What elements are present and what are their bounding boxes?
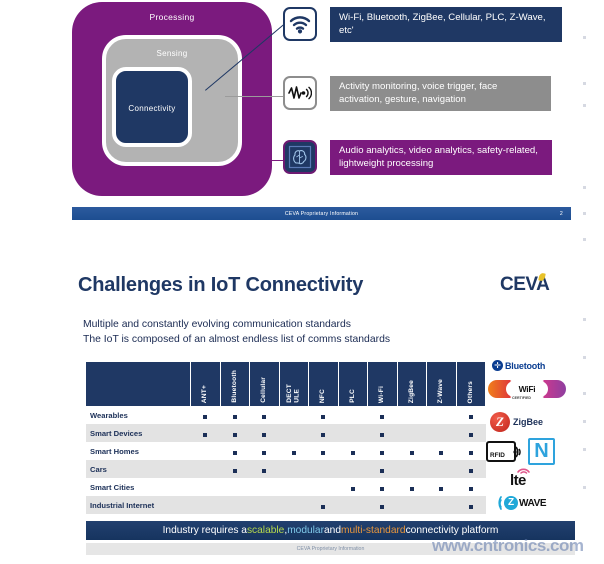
table-row: Smart Devices [86, 424, 486, 442]
zigbee-logo-label: ZigBee [513, 417, 543, 427]
support-dot-icon [351, 487, 355, 491]
zwave-logo-label: WAVE [519, 498, 546, 509]
table-cell [279, 406, 309, 424]
slide2-footer-text: CEVA Proprietary Information [297, 546, 365, 552]
banner-mid: and [324, 525, 341, 536]
table-col-header: NFC [309, 362, 339, 406]
support-dot-icon [321, 505, 325, 509]
table-cell [397, 424, 427, 442]
table-cell [250, 424, 280, 442]
wifi-certified-label: CERTIFIED [512, 396, 531, 400]
table-cell [368, 460, 398, 478]
banner-suffix: connectivity platform [406, 525, 499, 536]
wifi-pill-shape: WiFi CERTIFIED [488, 380, 566, 398]
table-cell [279, 460, 309, 478]
bluetooth-logo-label: Bluetooth [505, 361, 545, 371]
support-dot-icon [262, 469, 266, 473]
table-cell [250, 460, 280, 478]
table-row-label: Smart Devices [86, 424, 191, 442]
rfid-box-icon: RFID [486, 441, 516, 462]
table-cell [456, 424, 486, 442]
rfid-logo: RFID N [486, 438, 555, 465]
table-cell [220, 496, 250, 514]
callout-connectivity: Wi-Fi, Bluetooth, ZigBee, Cellular, PLC,… [283, 7, 562, 42]
table-cell [397, 442, 427, 460]
table-cell [191, 424, 221, 442]
table-col-header: Others [456, 362, 486, 406]
support-dot-icon [233, 469, 237, 473]
table-row-label: Wearables [86, 406, 191, 424]
table-cell [250, 496, 280, 514]
table-row-label: Cars [86, 460, 191, 478]
rfid-logo-label: RFID [490, 452, 505, 459]
table-col-header-label: DECT ULE [286, 384, 301, 403]
table-cell [309, 406, 339, 424]
table-cell [427, 424, 457, 442]
table-cell [250, 478, 280, 496]
site-watermark: www.cntronics.com [432, 536, 583, 556]
table-cell [250, 442, 280, 460]
table-col-header-label: ANT+ [201, 385, 209, 403]
support-dot-icon [469, 433, 473, 437]
standards-logo-strip: ✛ Bluetooth WiFi CERTIFIED Z ZigBee RFID [484, 358, 576, 518]
support-dot-icon [469, 415, 473, 419]
zigbee-logo: Z ZigBee [490, 412, 543, 432]
table-cell [220, 442, 250, 460]
banner-word-modular: modular [287, 525, 324, 536]
slide1-footer-text: CEVA Proprietary Information [285, 211, 358, 217]
callout-connectivity-text: Wi-Fi, Bluetooth, ZigBee, Cellular, PLC,… [330, 7, 562, 42]
zwave-waves-icon [490, 496, 504, 510]
support-dot-icon [203, 433, 207, 437]
support-dot-icon [439, 451, 443, 455]
callout-processing-text: Audio analytics, video analytics, safety… [330, 140, 552, 175]
banner-prefix: Industry requires a [163, 525, 247, 536]
support-dot-icon [351, 451, 355, 455]
connectivity-ring: Connectivity [112, 67, 192, 147]
table-cell [397, 496, 427, 514]
table-col-header-label: Cellular [260, 377, 268, 403]
wifi-certified-logo: WiFi CERTIFIED [488, 380, 566, 398]
slide1-footer: CEVA Proprietary Information 2 [72, 207, 571, 220]
support-dot-icon [380, 451, 384, 455]
table-cell [368, 424, 398, 442]
table-col-header-label: Bluetooth [231, 370, 239, 403]
table-cell [338, 442, 368, 460]
support-dot-icon [321, 451, 325, 455]
table-row: Wearables [86, 406, 486, 424]
table-cell [456, 478, 486, 496]
table-cell [309, 478, 339, 496]
slide-iot-challenges: Challenges in IoT Connectivity CEVA Mult… [0, 236, 604, 564]
slide-iot-layers: Processing Sensing Connectivity Wi-Fi, B… [0, 0, 604, 232]
bluetooth-badge-icon: ✛ [492, 360, 503, 371]
support-dot-icon [292, 451, 296, 455]
table-cell [368, 496, 398, 514]
table-header-row: ANT+BluetoothCellularDECT ULENFCPLCWi-Fi… [86, 362, 486, 406]
support-dot-icon [469, 505, 473, 509]
support-dot-icon [233, 415, 237, 419]
table-row: Industrial Internet [86, 496, 486, 514]
banner-word-scalable: scalable [247, 525, 284, 536]
table-cell [220, 460, 250, 478]
table-cell [368, 478, 398, 496]
nfc-logo-label: N [534, 440, 548, 462]
table-col-header: Bluetooth [220, 362, 250, 406]
table-cell [191, 478, 221, 496]
table-cell [456, 460, 486, 478]
wifi-core-shape: WiFi [506, 381, 548, 397]
table-col-header-label: Wi-Fi [378, 386, 386, 403]
table-cell [456, 496, 486, 514]
zwave-circle-icon: Z [504, 496, 518, 510]
table-row: Smart Cities [86, 478, 486, 496]
table-cell [220, 424, 250, 442]
table-col-header-label: Z-Wave [437, 379, 445, 403]
support-dot-icon [233, 433, 237, 437]
support-dot-icon [410, 451, 414, 455]
table-cell [427, 442, 457, 460]
support-dot-icon [262, 415, 266, 419]
table-row-label: Smart Cities [86, 478, 191, 496]
table-cell [456, 406, 486, 424]
table-cell [338, 424, 368, 442]
table-cell [191, 496, 221, 514]
table-cell [250, 406, 280, 424]
standards-matrix-table: ANT+BluetoothCellularDECT ULENFCPLCWi-Fi… [86, 362, 486, 514]
table-cell [338, 496, 368, 514]
support-dot-icon [262, 451, 266, 455]
zwave-logo: Z WAVE [490, 496, 546, 510]
lte-logo-label: lte [510, 472, 526, 489]
support-dot-icon [380, 415, 384, 419]
table-body: WearablesSmart DevicesSmart HomesCarsSma… [86, 406, 486, 514]
table-col-header: PLC [338, 362, 368, 406]
table-cell [427, 460, 457, 478]
support-dot-icon [380, 505, 384, 509]
audio-waveform-icon [283, 76, 317, 110]
support-dot-icon [380, 487, 384, 491]
subtitle: Multiple and constantly evolving communi… [83, 318, 390, 347]
table-col-header: DECT ULE [279, 362, 309, 406]
ceva-logo-word: CEVA [500, 272, 562, 298]
table-cell [309, 460, 339, 478]
table-col-header: ZigBee [397, 362, 427, 406]
table-cell [309, 442, 339, 460]
table-row-label: Smart Homes [86, 442, 191, 460]
page-title: Challenges in IoT Connectivity [78, 274, 363, 297]
table-cell [427, 478, 457, 496]
callout-processing: Audio analytics, video analytics, safety… [283, 140, 552, 175]
support-dot-icon [203, 415, 207, 419]
table-cell [191, 460, 221, 478]
table-cell [368, 406, 398, 424]
table-cell [220, 478, 250, 496]
table-cell [279, 478, 309, 496]
banner-word-multi-standard: multi-standard [341, 525, 406, 536]
table-col-header-label: ZigBee [408, 380, 416, 403]
table-cell [279, 424, 309, 442]
support-dot-icon [262, 433, 266, 437]
table-row: Smart Homes [86, 442, 486, 460]
edge-artifacts [580, 0, 586, 564]
slide1-page-number: 2 [560, 211, 563, 217]
bluetooth-logo: ✛ Bluetooth [492, 360, 545, 371]
table-cell [427, 496, 457, 514]
iot-layer-diagram: Processing Sensing Connectivity [72, 2, 272, 196]
table-cell [220, 406, 250, 424]
table-cell [309, 496, 339, 514]
support-dot-icon [321, 415, 325, 419]
support-dot-icon [321, 433, 325, 437]
table-col-header-label: NFC [319, 389, 327, 403]
table-col-header-label: PLC [349, 389, 357, 403]
table-col-header-label: Others [467, 381, 475, 403]
support-dot-icon [439, 487, 443, 491]
table-cell [456, 442, 486, 460]
table-cell [368, 442, 398, 460]
callout-sensing: Activity monitoring, voice trigger, face… [283, 76, 551, 111]
connectivity-label: Connectivity [116, 104, 188, 113]
table-cell [309, 424, 339, 442]
table-row-label: Industrial Internet [86, 496, 191, 514]
wifi-signal-icon [283, 7, 317, 41]
table-col-header: Z-Wave [427, 362, 457, 406]
table-col-header: ANT+ [191, 362, 221, 406]
table-cell [338, 406, 368, 424]
support-dot-icon [380, 433, 384, 437]
wifi-logo-label: WiFi [519, 384, 536, 394]
sensing-label: Sensing [106, 49, 238, 58]
table-cell [279, 442, 309, 460]
support-dot-icon [469, 469, 473, 473]
table-cell [397, 406, 427, 424]
table-cell [279, 496, 309, 514]
table-row: Cars [86, 460, 486, 478]
brain-chip-icon [283, 140, 317, 174]
support-dot-icon [410, 487, 414, 491]
nfc-box-icon: N [528, 438, 555, 465]
table-cell [338, 460, 368, 478]
support-dot-icon [380, 469, 384, 473]
table-corner-cell [86, 362, 191, 406]
support-dot-icon [233, 451, 237, 455]
table-cell [191, 406, 221, 424]
lte-waves-icon [516, 462, 532, 474]
ceva-logo: CEVA [500, 272, 562, 298]
processing-label: Processing [72, 12, 272, 22]
support-dot-icon [469, 451, 473, 455]
zigbee-circle-icon: Z [490, 412, 510, 432]
table-cell [397, 478, 427, 496]
table-cell [397, 460, 427, 478]
connector-line-2 [225, 96, 285, 97]
support-dot-icon [469, 487, 473, 491]
table-col-header: Wi-Fi [368, 362, 398, 406]
table-cell [427, 406, 457, 424]
callout-sensing-text: Activity monitoring, voice trigger, face… [330, 76, 551, 111]
table-cell [191, 442, 221, 460]
table-cell [338, 478, 368, 496]
table-col-header: Cellular [250, 362, 280, 406]
lte-logo: lte [510, 472, 526, 489]
